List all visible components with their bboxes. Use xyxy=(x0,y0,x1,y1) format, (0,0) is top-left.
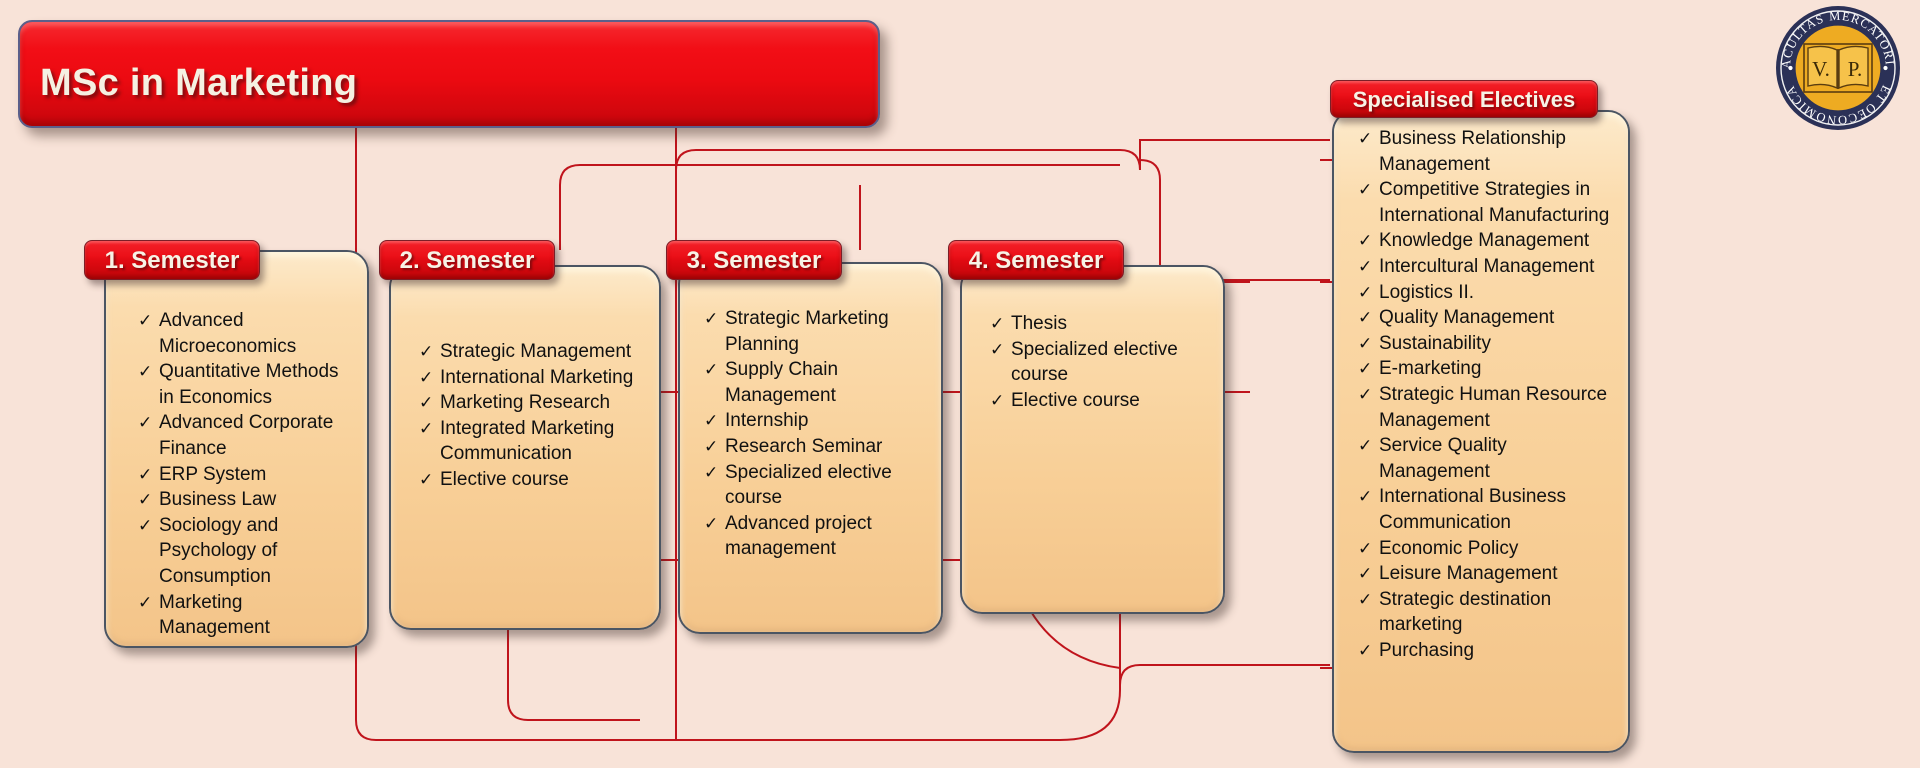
course-item: ✓Marketing Management xyxy=(138,590,349,641)
semester-1-label: 1. Semester xyxy=(105,247,240,274)
check-icon: ✓ xyxy=(1358,638,1372,664)
semester-3-card[interactable]: ✓Strategic Marketing Planning✓Supply Cha… xyxy=(678,262,943,634)
course-label: Sociology and Psychology of Consumption xyxy=(159,515,278,587)
check-icon: ✓ xyxy=(990,311,1004,337)
course-item: ✓Advanced Microeconomics xyxy=(138,308,349,359)
course-item: ✓ERP System xyxy=(138,462,349,488)
semester-4-course-list: ✓Thesis✓Specialized elective course✓Elec… xyxy=(990,311,1209,413)
check-icon: ✓ xyxy=(1358,126,1372,152)
course-label: Elective course xyxy=(440,469,569,490)
course-label: Quality Management xyxy=(1379,307,1554,328)
course-label: Elective course xyxy=(1011,390,1140,411)
course-label: Purchasing xyxy=(1379,640,1474,661)
course-item: ✓Research Seminar xyxy=(704,434,927,460)
check-icon: ✓ xyxy=(704,306,718,332)
program-title: MSc in Marketing xyxy=(40,62,357,105)
course-item: ✓International Business Communication xyxy=(1358,484,1618,535)
check-icon: ✓ xyxy=(138,487,152,513)
course-item: ✓Elective course xyxy=(990,388,1209,414)
check-icon: ✓ xyxy=(138,590,152,616)
specialised-electives-course-list: ✓Business Relationship Management✓Compet… xyxy=(1358,126,1618,663)
specialised-electives-title[interactable]: Specialised Electives xyxy=(1330,80,1598,118)
check-icon: ✓ xyxy=(1358,280,1372,306)
specialised-electives-card[interactable]: ✓Business Relationship Management✓Compet… xyxy=(1332,110,1630,753)
course-item: ✓Knowledge Management xyxy=(1358,228,1618,254)
check-icon: ✓ xyxy=(1358,561,1372,587)
check-icon: ✓ xyxy=(138,410,152,436)
semester-1-course-list: ✓Advanced Microeconomics✓Quantitative Me… xyxy=(138,308,349,641)
check-icon: ✓ xyxy=(1358,356,1372,382)
semester-2-title[interactable]: 2. Semester xyxy=(379,240,555,280)
semester-1-title[interactable]: 1. Semester xyxy=(84,240,260,280)
course-label: Marketing Research xyxy=(440,392,610,413)
course-item: ✓Competitive Strategies in International… xyxy=(1358,177,1618,228)
course-label: Strategic Management xyxy=(440,341,631,362)
course-item: ✓Thesis xyxy=(990,311,1209,337)
course-item: ✓Internship xyxy=(704,408,927,434)
course-item: ✓Intercultural Management xyxy=(1358,254,1618,280)
semester-4-label: 4. Semester xyxy=(969,247,1104,274)
course-label: Logistics II. xyxy=(1379,282,1474,303)
course-label: Strategic Marketing Planning xyxy=(725,308,889,355)
course-label: International Marketing xyxy=(440,367,633,388)
course-label: Economic Policy xyxy=(1379,538,1518,559)
course-item: ✓International Marketing xyxy=(419,365,643,391)
course-label: Competitive Strategies in International … xyxy=(1379,179,1609,226)
course-label: Thesis xyxy=(1011,313,1067,334)
check-icon: ✓ xyxy=(1358,433,1372,459)
check-icon: ✓ xyxy=(704,357,718,383)
faculty-seal-logo: FACULTAS MERCATORIA ET OECONOMICA V. P. xyxy=(1774,4,1902,132)
course-label: Strategic Human Resource Management xyxy=(1379,384,1607,431)
check-icon: ✓ xyxy=(1358,331,1372,357)
semester-1-card[interactable]: ✓Advanced Microeconomics✓Quantitative Me… xyxy=(104,250,369,648)
course-label: Advanced Microeconomics xyxy=(159,310,296,357)
semester-3-label: 3. Semester xyxy=(687,247,822,274)
course-item: ✓Marketing Research xyxy=(419,390,643,416)
course-item: ✓Purchasing xyxy=(1358,638,1618,664)
semester-2-card[interactable]: ✓Strategic Management✓International Mark… xyxy=(389,265,661,630)
course-label: Research Seminar xyxy=(725,436,882,457)
check-icon: ✓ xyxy=(1358,484,1372,510)
semester-3-title[interactable]: 3. Semester xyxy=(666,240,842,280)
check-icon: ✓ xyxy=(138,513,152,539)
check-icon: ✓ xyxy=(419,467,433,493)
course-item: ✓Specialized elective course xyxy=(704,460,927,511)
course-item: ✓Integrated Marketing Communication xyxy=(419,416,643,467)
course-label: Business Relationship Management xyxy=(1379,128,1566,175)
check-icon: ✓ xyxy=(1358,177,1372,203)
check-icon: ✓ xyxy=(138,359,152,385)
semester-2-course-list: ✓Strategic Management✓International Mark… xyxy=(419,339,643,493)
course-label: Advanced Corporate Finance xyxy=(159,412,333,459)
semester-3-course-list: ✓Strategic Marketing Planning✓Supply Cha… xyxy=(704,306,927,562)
semester-2-label: 2. Semester xyxy=(400,247,535,274)
course-item: ✓Elective course xyxy=(419,467,643,493)
book-left-initial: V. xyxy=(1812,57,1830,81)
check-icon: ✓ xyxy=(419,416,433,442)
course-label: Knowledge Management xyxy=(1379,230,1589,251)
check-icon: ✓ xyxy=(419,365,433,391)
course-item: ✓Business Law xyxy=(138,487,349,513)
check-icon: ✓ xyxy=(990,337,1004,363)
check-icon: ✓ xyxy=(704,408,718,434)
course-label: International Business Communication xyxy=(1379,486,1566,533)
course-item: ✓Specialized elective course xyxy=(990,337,1209,388)
course-item: ✓Leisure Management xyxy=(1358,561,1618,587)
check-icon: ✓ xyxy=(704,434,718,460)
course-label: Specialized elective course xyxy=(1011,339,1178,386)
check-icon: ✓ xyxy=(990,388,1004,414)
program-banner: MSc in Marketing xyxy=(18,20,880,128)
course-label: Internship xyxy=(725,410,808,431)
course-item: ✓Advanced project management xyxy=(704,511,927,562)
check-icon: ✓ xyxy=(1358,254,1372,280)
check-icon: ✓ xyxy=(1358,382,1372,408)
specialised-electives-label: Specialised Electives xyxy=(1353,87,1576,112)
course-label: ERP System xyxy=(159,464,266,485)
course-item: ✓Quality Management xyxy=(1358,305,1618,331)
diagram-canvas: MSc in Marketing FACULTAS MERCATORIA ET … xyxy=(0,0,1920,768)
check-icon: ✓ xyxy=(1358,587,1372,613)
seal-icon: FACULTAS MERCATORIA ET OECONOMICA V. P. xyxy=(1774,4,1902,132)
check-icon: ✓ xyxy=(1358,536,1372,562)
course-label: Quantitative Methods in Economics xyxy=(159,361,339,408)
course-label: Intercultural Management xyxy=(1379,256,1594,277)
course-item: ✓Strategic Marketing Planning xyxy=(704,306,927,357)
check-icon: ✓ xyxy=(704,460,718,486)
check-icon: ✓ xyxy=(704,511,718,537)
check-icon: ✓ xyxy=(138,462,152,488)
check-icon: ✓ xyxy=(419,390,433,416)
course-item: ✓Supply Chain Management xyxy=(704,357,927,408)
course-item: ✓Sociology and Psychology of Consumption xyxy=(138,513,349,590)
course-item: ✓Quantitative Methods in Economics xyxy=(138,359,349,410)
check-icon: ✓ xyxy=(1358,305,1372,331)
course-label: Service Quality Management xyxy=(1379,435,1507,482)
course-label: Sustainability xyxy=(1379,333,1491,354)
course-label: Integrated Marketing Communication xyxy=(440,418,614,465)
course-item: ✓Service Quality Management xyxy=(1358,433,1618,484)
course-item: ✓Strategic destination marketing xyxy=(1358,587,1618,638)
course-label: Specialized elective course xyxy=(725,462,892,509)
course-label: Leisure Management xyxy=(1379,563,1558,584)
course-label: Marketing Management xyxy=(159,592,270,639)
course-label: Advanced project management xyxy=(725,513,872,560)
course-item: ✓Advanced Corporate Finance xyxy=(138,410,349,461)
course-item: ✓E-marketing xyxy=(1358,356,1618,382)
course-item: ✓Economic Policy xyxy=(1358,536,1618,562)
book-right-initial: P. xyxy=(1848,57,1863,81)
course-item: ✓Sustainability xyxy=(1358,331,1618,357)
semester-4-card[interactable]: ✓Thesis✓Specialized elective course✓Elec… xyxy=(960,265,1225,614)
course-item: ✓Logistics II. xyxy=(1358,280,1618,306)
check-icon: ✓ xyxy=(1358,228,1372,254)
semester-4-title[interactable]: 4. Semester xyxy=(948,240,1124,280)
course-label: Strategic destination marketing xyxy=(1379,589,1551,636)
check-icon: ✓ xyxy=(138,308,152,334)
course-label: E-marketing xyxy=(1379,358,1481,379)
course-item: ✓Business Relationship Management xyxy=(1358,126,1618,177)
course-label: Supply Chain Management xyxy=(725,359,838,406)
course-item: ✓Strategic Management xyxy=(419,339,643,365)
course-label: Business Law xyxy=(159,489,276,510)
course-item: ✓Strategic Human Resource Management xyxy=(1358,382,1618,433)
check-icon: ✓ xyxy=(419,339,433,365)
